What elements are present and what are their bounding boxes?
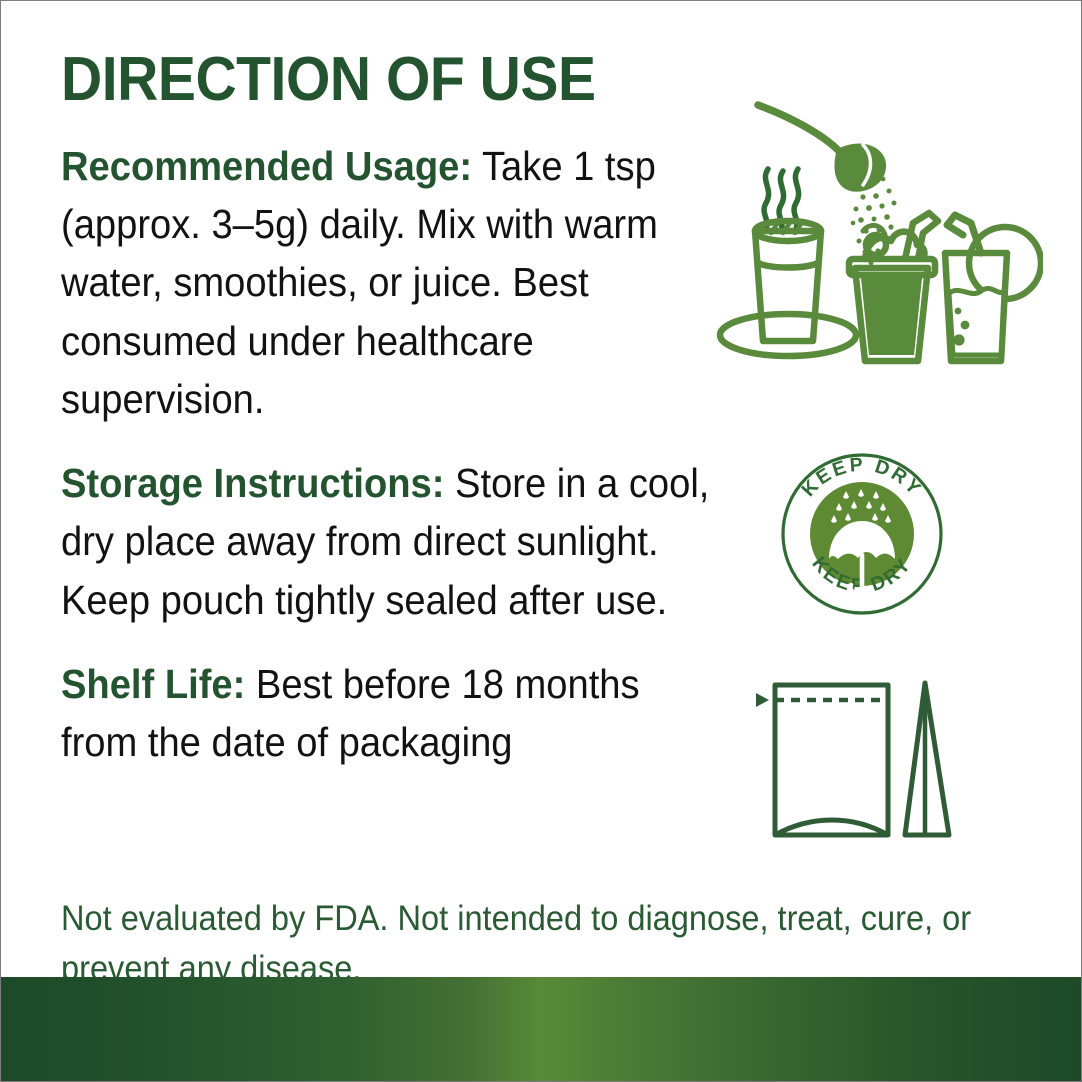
tear-notch [756,693,769,707]
spoon-pouring-into-drinks-icon [713,63,1043,373]
pouch-front [775,685,888,835]
stand-up-pouch-icon [753,669,963,849]
bottom-gradient-band [1,977,1081,1081]
page-title: DIRECTION OF USE [61,49,668,111]
section-shelf-life: Shelf Life: Best before 18 months from t… [61,655,723,771]
keep-dry-badge-icon: KEEP DRY KEEP DRY [779,451,945,617]
section-label-recommended-usage: Recommended Usage: [61,143,472,189]
direction-of-use-panel: DIRECTION OF USE Recommended Usage: Take… [0,0,1082,1082]
section-label-storage-instructions: Storage Instructions: [61,460,444,506]
section-storage-instructions: Storage Instructions: Store in a cool, d… [61,454,723,629]
text-column: DIRECTION OF USE Recommended Usage: Take… [61,49,721,771]
section-label-shelf-life: Shelf Life: [61,661,245,707]
section-recommended-usage: Recommended Usage: Take 1 tsp (approx. 3… [61,137,723,428]
